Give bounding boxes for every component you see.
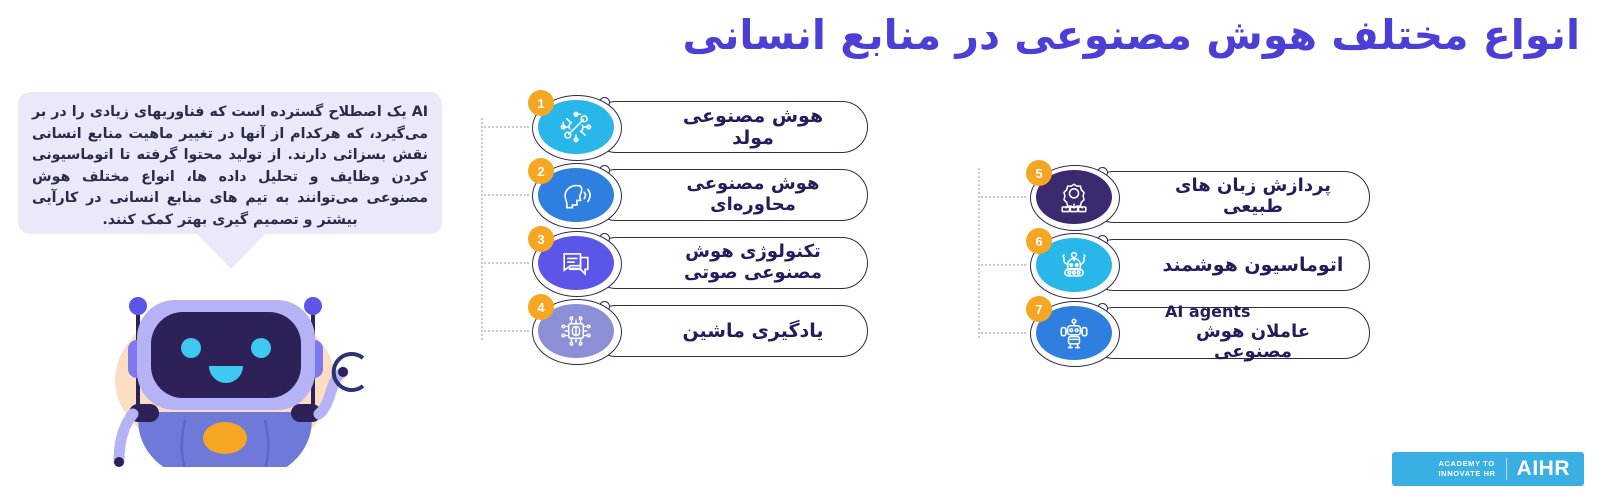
item-sublabel: AI agents <box>1159 303 1347 322</box>
item-capsule[interactable]: AI agents عاملان هوش مصنوعی <box>1088 307 1370 359</box>
item-label: یادگیری ماشین <box>661 320 845 342</box>
item-number-badge: 6 <box>1026 228 1052 254</box>
ai-robot-mascot <box>75 262 375 467</box>
right-connector-branch <box>978 332 1026 334</box>
mascot-button <box>203 422 247 454</box>
item-icon-holder[interactable]: 5 <box>1026 164 1122 230</box>
infographic-canvas: انواع مختلف هوش مصنوعی در منابع انسانی A… <box>0 0 1600 500</box>
item-capsule[interactable]: تکنولوژی هوش مصنوعی صوتی <box>590 237 868 289</box>
item-icon-holder[interactable]: 2 <box>528 162 624 228</box>
item-label: تکنولوژی هوش مصنوعی صوتی <box>661 242 845 284</box>
item-label: پردازش زبان های طبیعی <box>1159 176 1347 218</box>
item-icon-holder[interactable]: 4 <box>528 298 624 364</box>
item-icon-holder[interactable]: 1 <box>528 94 624 160</box>
logo-tagline: ACADEMY TO INNOVATE HR <box>1439 459 1496 479</box>
item-icon-holder[interactable]: 6 <box>1026 232 1122 298</box>
left-connector-branch <box>481 126 529 128</box>
left-connector-branch <box>481 262 529 264</box>
logo-tagline-line1: ACADEMY TO <box>1439 459 1495 468</box>
right-connector-trunk <box>978 168 980 338</box>
item-capsule[interactable]: پردازش زبان های طبیعی <box>1088 171 1370 223</box>
item-label: عاملان هوش مصنوعی <box>1196 320 1310 362</box>
logo-wordmark: AIHR <box>1517 457 1570 481</box>
mascot-eye-left <box>181 338 201 358</box>
right-connector-branch <box>978 196 1026 198</box>
mascot-eye-right <box>251 338 271 358</box>
item-number-badge: 7 <box>1026 296 1052 322</box>
item-capsule[interactable]: اتوماسیون هوشمند <box>1088 239 1370 291</box>
item-capsule[interactable]: هوش مصنوعی مولد <box>590 101 868 153</box>
logo-tagline-line2: INNOVATE HR <box>1439 469 1496 478</box>
item-number-badge: 1 <box>528 90 554 116</box>
item-label: هوش مصنوعی مولد <box>661 105 845 149</box>
item-capsule[interactable]: یادگیری ماشین <box>590 305 868 357</box>
item-icon-holder[interactable]: 3 <box>528 230 624 296</box>
item-label: اتوماسیون هوشمند <box>1159 254 1347 276</box>
item-number-badge: 5 <box>1026 160 1052 186</box>
left-connector-branch <box>481 330 529 332</box>
left-connector-trunk <box>481 118 483 340</box>
aihr-logo[interactable]: AIHR ACADEMY TO INNOVATE HR <box>1392 452 1584 486</box>
item-label: هوش مصنوعی محاوره‌ای <box>661 174 845 216</box>
mascot-face <box>151 312 301 398</box>
item-capsule[interactable]: هوش مصنوعی محاوره‌ای <box>590 169 868 221</box>
item-number-badge: 4 <box>528 294 554 320</box>
item-number-badge: 2 <box>528 158 554 184</box>
right-connector-branch <box>978 264 1026 266</box>
logo-divider <box>1506 458 1507 480</box>
item-icon-holder[interactable]: 7 <box>1026 300 1122 366</box>
item-number-badge: 3 <box>528 226 554 252</box>
left-connector-branch <box>481 194 529 196</box>
page-title: انواع مختلف هوش مصنوعی در منابع انسانی <box>170 10 1580 60</box>
intro-text: AI یک اصطلاح گسترده است که فناوریهای زیا… <box>18 98 442 232</box>
item-label-group: AI agents عاملان هوش مصنوعی <box>1159 303 1347 363</box>
